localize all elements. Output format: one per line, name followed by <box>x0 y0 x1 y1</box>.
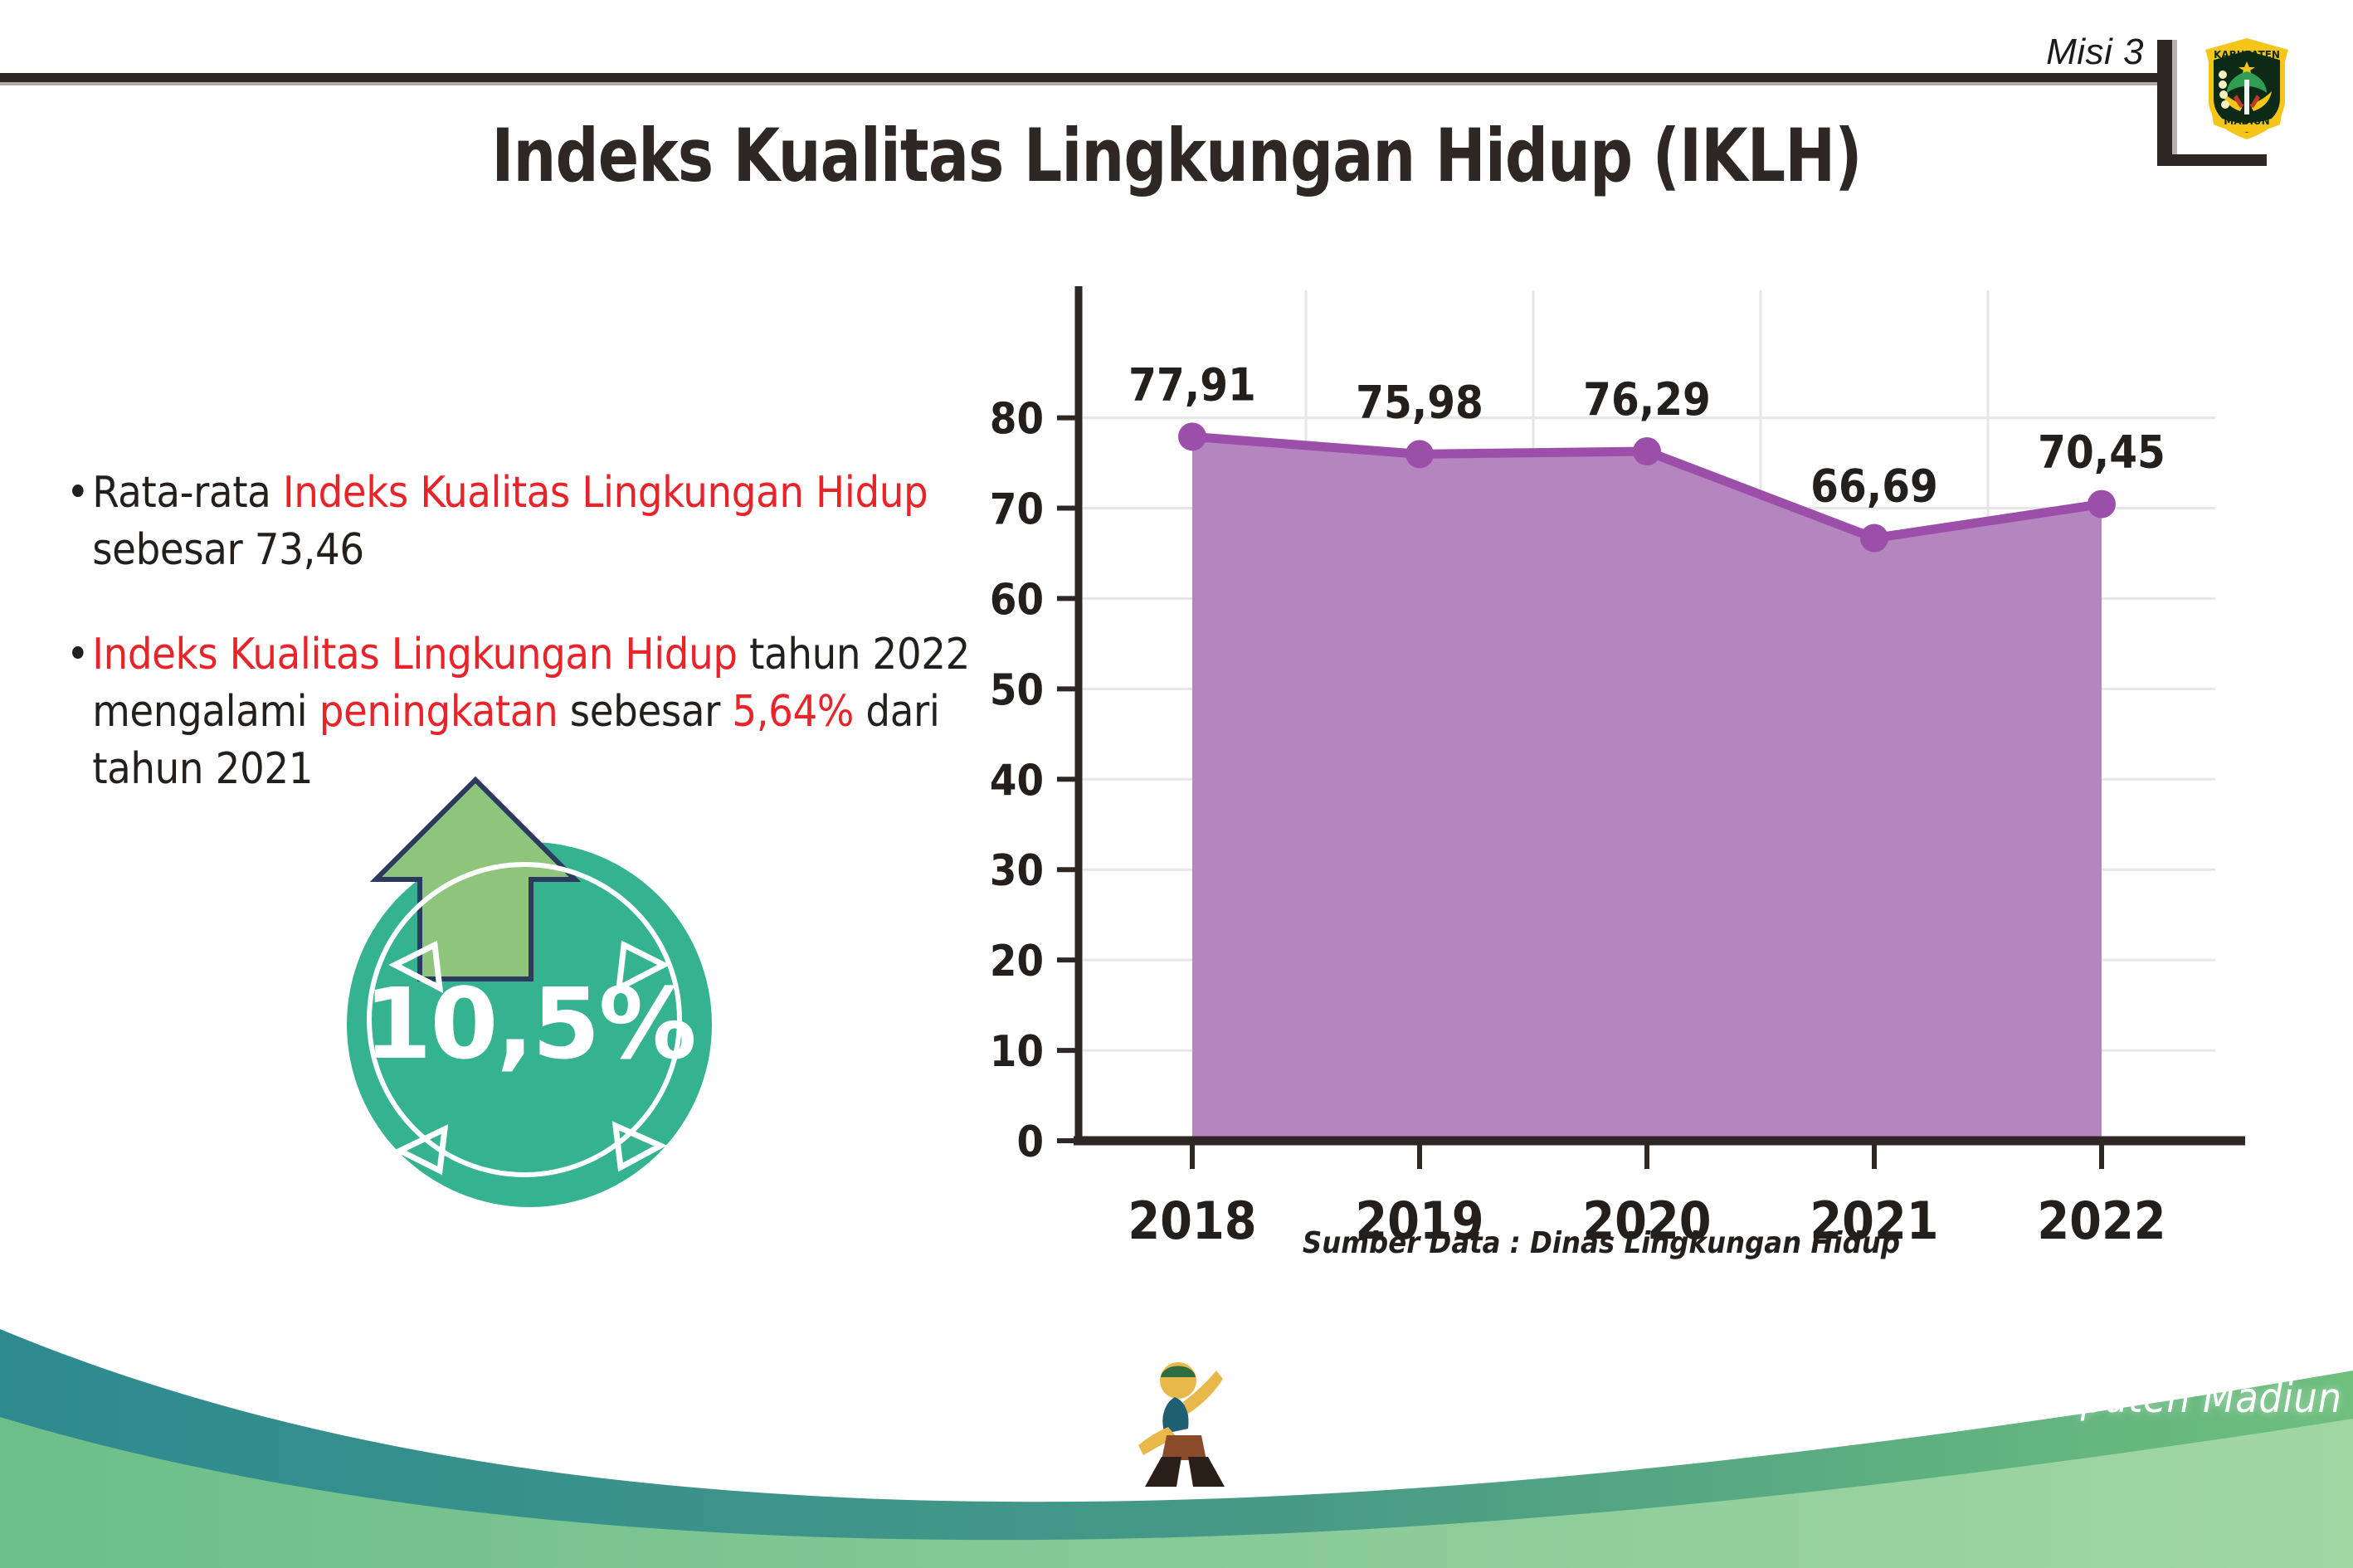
misi-label: Misi 3 <box>2046 32 2144 73</box>
data-point-label: 70,45 <box>2038 426 2165 479</box>
y-axis-label: 40 <box>990 756 1044 806</box>
header-rule-shadow <box>0 82 2162 85</box>
footer-bar: Media Infografis Data Statistik Sektoral… <box>0 1294 2353 1568</box>
bullet-segment: Rata-rata <box>92 468 283 518</box>
data-point-marker <box>1633 437 1661 465</box>
bullet-item-0: • Rata-rata Indeks Kualitas Lingkungan H… <box>66 465 996 578</box>
data-point-label: 77,91 <box>1128 358 1256 411</box>
bullet-text: Rata-rata Indeks Kualitas Lingkungan Hid… <box>92 465 996 578</box>
header-rule <box>0 73 2162 82</box>
bullet-segment-highlight: Indeks Kualitas Lingkungan Hidup <box>283 468 928 518</box>
data-point-label: 75,98 <box>1356 376 1483 428</box>
bullet-segment-highlight: peningkatan <box>319 687 558 737</box>
y-axis-label: 70 <box>990 485 1044 535</box>
footer-caption: Media Infografis Data Statistik Sektoral… <box>1226 1374 2353 1470</box>
logo-top-text: KABUPATEN <box>2214 49 2280 61</box>
data-point-marker <box>1860 524 1888 553</box>
iklh-area-chart: 77,9175,9876,2966,6970,45010203040506070… <box>954 282 2248 1294</box>
source-note: Sumber Data : Dinas Lingkungan Hidup <box>954 1226 2248 1260</box>
chart-canvas: 77,9175,9876,2966,6970,45010203040506070… <box>954 282 2248 1294</box>
y-axis-label: 60 <box>990 575 1044 625</box>
bullet-segment: sebesar 73,46 <box>92 525 363 575</box>
y-axis-label: 0 <box>1016 1118 1044 1167</box>
data-point-marker <box>2087 490 2116 519</box>
area-fill <box>1192 436 2102 1141</box>
data-point-label: 76,29 <box>1583 373 1711 426</box>
badge-value: 10,5% <box>347 967 712 1081</box>
data-point-marker <box>1405 440 1434 468</box>
page-title: Indeks Kualitas Lingkungan Hidup (IKLH) <box>94 113 2258 198</box>
y-axis-label: 20 <box>990 937 1044 986</box>
bullet-segment-highlight: 5,64% <box>732 687 854 737</box>
y-axis-label: 30 <box>990 846 1044 896</box>
y-axis-label: 10 <box>990 1027 1044 1077</box>
data-point-marker <box>1178 422 1206 450</box>
running-person-icon <box>1138 1356 1230 1488</box>
y-axis-label: 80 <box>990 395 1044 445</box>
bullet-list: • Rata-rata Indeks Kualitas Lingkungan H… <box>66 465 996 797</box>
y-axis-label: 50 <box>990 665 1044 715</box>
data-point-label: 66,69 <box>1810 460 1938 513</box>
bullet-segment: sebesar <box>558 687 732 737</box>
bullet-segment-highlight: Indeks Kualitas Lingkungan Hidup <box>92 630 737 679</box>
bullet-marker: • <box>66 465 89 522</box>
bullet-marker: • <box>66 626 89 684</box>
increase-badge: 10,5% <box>330 759 762 1207</box>
